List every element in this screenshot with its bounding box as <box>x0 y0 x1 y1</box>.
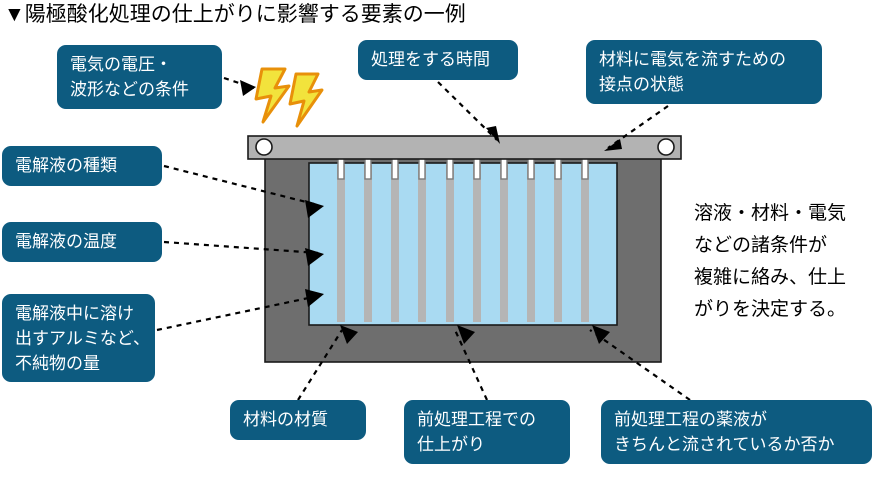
summary-text: 溶液・材料・電気 などの諸条件が 複雑に絡み、仕上 がりを決定する。 <box>694 198 874 326</box>
lightning-bolt-icon-2 <box>290 74 322 126</box>
callout-material-quality[interactable]: 材料の材質 <box>230 400 366 440</box>
electrolyte-liquid <box>309 163 617 325</box>
bar-hole-right <box>658 139 674 155</box>
diagram-canvas: ▼陽極酸化処理の仕上がりに影響する要素の一例 <box>0 0 880 499</box>
callout-electrolyte-type[interactable]: 電解液の種類 <box>2 146 162 186</box>
lightning-bolt-icon-1 <box>256 69 289 122</box>
callout-voltage-waveform[interactable]: 電気の電圧・ 波形などの条件 <box>57 45 222 109</box>
callout-impurity-amount[interactable]: 電解液中に溶け 出すアルミなど、 不純物の量 <box>2 294 155 382</box>
callout-contact-state[interactable]: 材料に電気を流すための 接点の状態 <box>586 40 822 104</box>
callout-pretreatment-chemical-flow[interactable]: 前処理工程の薬液が きちんと流されているか否か <box>601 400 872 464</box>
callout-pretreatment-finish[interactable]: 前処理工程での 仕上がり <box>404 400 570 464</box>
bar-hole-left <box>256 139 272 155</box>
callout-processing-time[interactable]: 処理をする時間 <box>358 40 518 80</box>
callout-electrolyte-temperature[interactable]: 電解液の温度 <box>2 222 162 262</box>
